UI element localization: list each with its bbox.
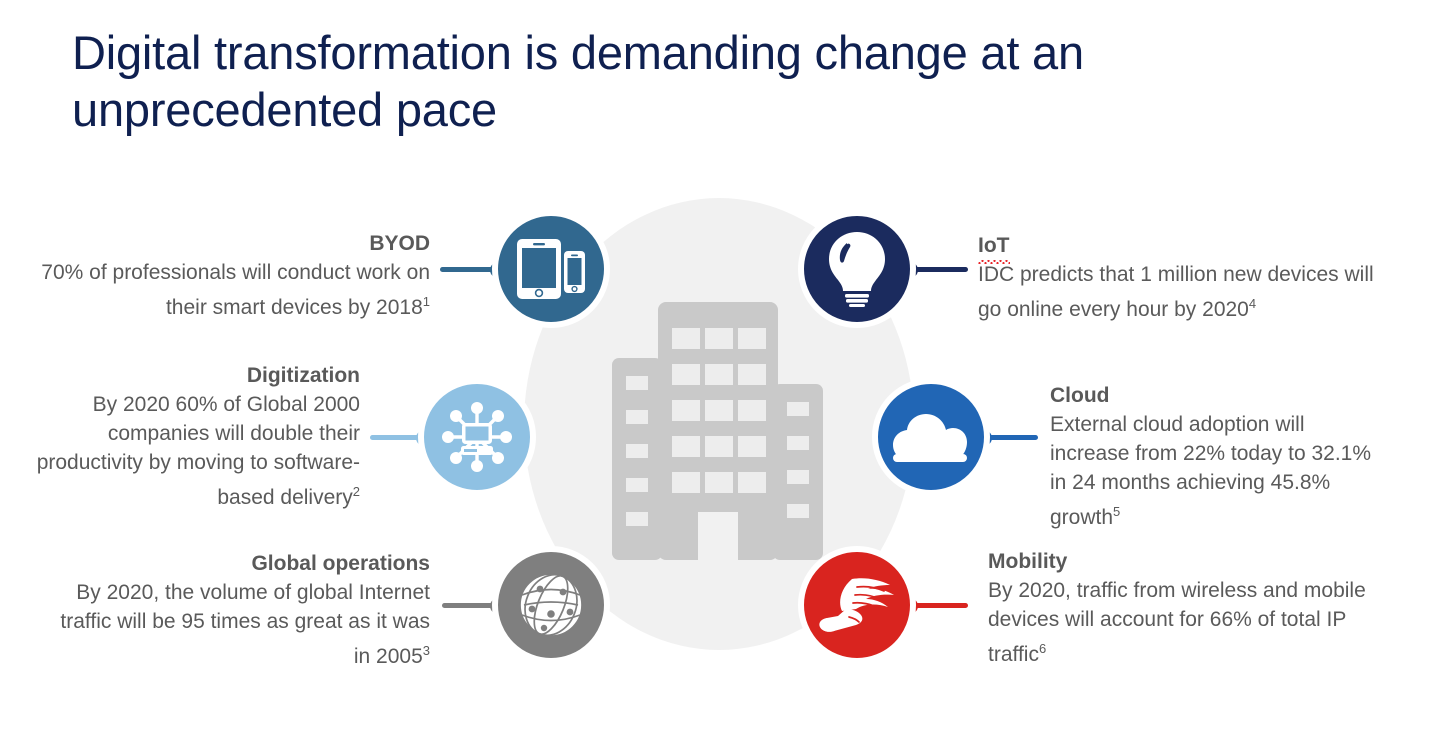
lightbulb-icon	[826, 231, 888, 307]
footnote-text	[72, 737, 672, 744]
connector-global-operations	[442, 603, 498, 608]
footnote-ref: 6	[1039, 641, 1046, 656]
callout-heading: Digitization	[20, 362, 360, 390]
callout-body-text: By 2020, the volume of global Internet t…	[60, 581, 430, 668]
cloud-icon	[891, 410, 971, 464]
connector-cloud	[984, 435, 1038, 440]
footnote-ref: 2	[353, 484, 360, 499]
callout-cloud: Cloud External cloud adoption will incre…	[1050, 382, 1380, 532]
footnote-ref: 1	[423, 294, 430, 309]
callout-digitization: Digitization By 2020 60% of Global 2000 …	[20, 362, 360, 512]
callout-iot: IoT IDC predicts that 1 million new devi…	[978, 232, 1378, 324]
node-byod[interactable]	[492, 210, 610, 328]
callout-heading: Global operations	[60, 550, 430, 578]
tablet-and-phone-icon	[516, 238, 586, 300]
callout-heading: IoT	[978, 232, 1378, 260]
spellcheck-underline: IoT	[978, 232, 1010, 260]
callout-global-operations: Global operations By 2020, the volume of…	[60, 550, 430, 671]
node-global-operations[interactable]	[492, 546, 610, 664]
callout-heading: Mobility	[988, 548, 1388, 576]
callout-byod: BYOD 70% of professionals will conduct w…	[20, 230, 430, 322]
node-digitization[interactable]	[418, 378, 536, 496]
footnote-ref: 5	[1113, 504, 1120, 519]
callout-body: IDC predicts that 1 million new devices …	[978, 260, 1378, 324]
node-cloud[interactable]	[872, 378, 990, 496]
connector-iot	[910, 267, 968, 272]
page-title: Digital transformation is demanding chan…	[72, 24, 1332, 138]
callout-body: By 2020, traffic from wireless and mobil…	[988, 576, 1388, 669]
connector-mobility	[910, 603, 968, 608]
callout-body: External cloud adoption will increase fr…	[1050, 410, 1380, 532]
callout-body-text: 70% of professionals will conduct work o…	[41, 261, 430, 319]
infographic-diagram: BYOD 70% of professionals will conduct w…	[0, 150, 1432, 710]
node-mobility[interactable]	[798, 546, 916, 664]
connector-byod	[440, 267, 498, 272]
footnote-ref: 3	[423, 643, 430, 658]
callout-mobility: Mobility By 2020, traffic from wireless …	[988, 548, 1388, 669]
connector-digitization	[370, 435, 424, 440]
callout-body: By 2020, the volume of global Internet t…	[60, 578, 430, 671]
callout-body-text: By 2020 60% of Global 2000 companies wil…	[37, 393, 360, 509]
node-iot[interactable]	[798, 210, 916, 328]
office-building-icon	[610, 300, 825, 560]
winged-foot-icon	[816, 573, 898, 637]
footnote-ref: 4	[1249, 296, 1256, 311]
callout-body-text: IDC predicts that 1 million new devices …	[978, 263, 1374, 321]
network-hub-computer-icon	[440, 400, 514, 474]
callout-body: 70% of professionals will conduct work o…	[20, 258, 430, 322]
callout-body: By 2020 60% of Global 2000 companies wil…	[20, 390, 360, 512]
globe-network-icon	[514, 568, 588, 642]
callout-heading: BYOD	[20, 230, 430, 258]
callout-body-text: External cloud adoption will increase fr…	[1050, 413, 1371, 529]
callout-heading: Cloud	[1050, 382, 1380, 410]
